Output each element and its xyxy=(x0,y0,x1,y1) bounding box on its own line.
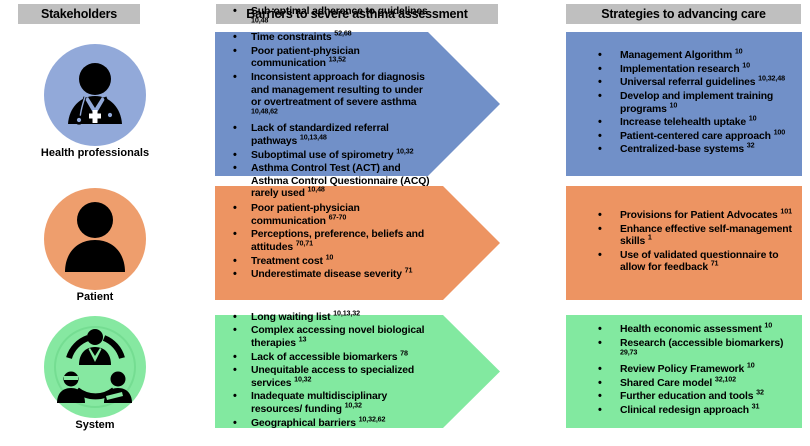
citation-ref: 10 xyxy=(747,361,755,370)
list-item-text: Further education and tools xyxy=(620,391,756,402)
list-item: Health economic assessment 10 xyxy=(590,324,794,337)
stakeholder-circle-patient xyxy=(44,188,146,290)
stakeholder-label: Patient xyxy=(2,291,188,303)
list-item: Poor patient-physician communication 13,… xyxy=(229,46,430,71)
person-icon xyxy=(44,188,146,290)
strategy-list: Provisions for Patient Advocates 101Enha… xyxy=(590,210,794,275)
citation-ref: 13,52 xyxy=(329,55,346,64)
stakeholder-circle-health-professionals xyxy=(44,44,146,146)
list-item-text: Universal referral guidelines xyxy=(620,77,758,88)
list-item-text: Management Algorithm xyxy=(620,50,735,61)
citation-ref: 52,68 xyxy=(334,29,351,38)
list-item: Lack of standardized referral pathways 1… xyxy=(229,123,430,148)
citation-ref: 67-70 xyxy=(329,212,347,221)
citation-ref: 10,32 xyxy=(345,401,362,410)
list-item-text: Suboptimal use of spirometry xyxy=(251,150,396,161)
group-network-icon xyxy=(44,316,146,418)
list-item-text: Geographical barriers xyxy=(251,418,359,429)
list-item-text: Lack of accessible biomarkers xyxy=(251,352,400,363)
list-item-text: Provisions for Patient Advocates xyxy=(620,210,780,221)
list-item: Time constraints 52,68 xyxy=(229,32,430,45)
list-item-text: Treatment cost xyxy=(251,256,326,267)
strategies-box-patient: Provisions for Patient Advocates 101Enha… xyxy=(566,186,802,300)
citation-ref: 10 xyxy=(669,100,677,109)
barriers-arrow-patient: Poor patient-physician communication 67-… xyxy=(215,186,500,300)
list-item-text: Complex accessing novel biological thera… xyxy=(251,325,424,349)
list-item: Sub-optimal adherence to guidelines 10,4… xyxy=(229,6,430,31)
list-item: Asthma Control Test (ACT) and Asthma Con… xyxy=(229,163,430,201)
citation-ref: 10 xyxy=(742,60,750,69)
stakeholder-circle-system xyxy=(44,316,146,418)
column-header-strategies: Strategies to advancing care xyxy=(566,4,801,24)
stakeholder-label: Health professionals xyxy=(2,147,188,159)
list-item: Perceptions, preference, beliefs and att… xyxy=(229,229,430,254)
citation-ref: 71 xyxy=(711,259,719,268)
list-item: Underestimate disease severity 71 xyxy=(229,269,430,282)
barriers-arrow-health-professionals: Sub-optimal adherence to guidelines 10,4… xyxy=(215,32,500,176)
citation-ref: 10,48 xyxy=(251,15,268,24)
list-item: Geographical barriers 10,32,62 xyxy=(229,418,430,431)
citation-ref: 10,32 xyxy=(294,374,311,383)
list-item: Further education and tools 32 xyxy=(590,391,794,404)
list-item: Patient-centered care approach 100 xyxy=(590,131,794,144)
diagram-canvas: Stakeholders Barriers to severe asthma a… xyxy=(0,0,810,446)
strategies-box-health-professionals: Management Algorithm 10Implementation re… xyxy=(566,32,802,176)
list-item: Unequitable access to specialized servic… xyxy=(229,365,430,390)
strategy-list: Health economic assessment 10Research (a… xyxy=(590,324,794,417)
list-item-text: Increase telehealth uptake xyxy=(620,117,749,128)
citation-ref: 1 xyxy=(648,233,652,242)
citation-ref: 32 xyxy=(747,141,755,150)
citation-ref: 10 xyxy=(749,114,757,123)
list-item: Use of validated questionnaire to allow … xyxy=(590,250,794,275)
citation-ref: 10,13,32 xyxy=(333,308,360,317)
stakeholder-system: System xyxy=(2,316,188,431)
doctor-icon xyxy=(44,44,146,146)
barrier-list: Poor patient-physician communication 67-… xyxy=(229,203,430,282)
list-item: Research (accessible biomarkers) 29,73 xyxy=(590,338,794,363)
list-item-text: Inadequate multidisciplinary resources/ … xyxy=(251,391,387,415)
citation-ref: 71 xyxy=(405,266,413,275)
list-item: Review Policy Framework 10 xyxy=(590,364,794,377)
list-item-text: Implementation research xyxy=(620,64,742,75)
citation-ref: 10,32 xyxy=(396,146,413,155)
list-item: Enhance effective self-management skills… xyxy=(590,224,794,249)
strategy-list: Management Algorithm 10Implementation re… xyxy=(590,50,794,157)
strategies-box-system: Health economic assessment 10Research (a… xyxy=(566,315,802,428)
list-item: Inconsistent approach for diagnosis and … xyxy=(229,72,430,122)
list-item-text: Clinical redesign approach xyxy=(620,405,752,416)
citation-ref: 32 xyxy=(756,388,764,397)
citation-ref: 10 xyxy=(326,252,334,261)
list-item: Develop and implement training programs … xyxy=(590,91,794,116)
list-item: Complex accessing novel biological thera… xyxy=(229,325,430,350)
list-item-text: Long waiting list xyxy=(251,312,333,323)
list-item-text: Sub-optimal adherence to guidelines xyxy=(251,6,428,17)
list-item-text: Unequitable access to specialized servic… xyxy=(251,365,414,389)
citation-ref: 70,71 xyxy=(296,239,313,248)
stakeholder-patient: Patient xyxy=(2,188,188,303)
list-item-text: Centralized-base systems xyxy=(620,144,747,155)
barrier-list: Sub-optimal adherence to guidelines 10,4… xyxy=(229,6,430,201)
list-item-text: Use of validated questionnaire to allow … xyxy=(620,250,778,274)
list-item: Long waiting list 10,13,32 xyxy=(229,312,430,325)
list-item-text: Develop and implement training programs xyxy=(620,91,773,115)
citation-ref: 13 xyxy=(299,335,307,344)
citation-ref: 10 xyxy=(735,47,743,56)
list-item-text: Asthma Control Test (ACT) and Asthma Con… xyxy=(251,163,429,199)
list-item: Suboptimal use of spirometry 10,32 xyxy=(229,150,430,163)
citation-ref: 29,73 xyxy=(620,347,637,356)
list-item: Inadequate multidisciplinary resources/ … xyxy=(229,391,430,416)
list-item: Provisions for Patient Advocates 101 xyxy=(590,210,794,223)
citation-ref: 32,102 xyxy=(715,374,736,383)
list-item: Poor patient-physician communication 67-… xyxy=(229,203,430,228)
citation-ref: 101 xyxy=(780,207,792,216)
citation-ref: 10,48,62 xyxy=(251,106,278,115)
list-item: Centralized-base systems 32 xyxy=(590,144,794,157)
citation-ref: 78 xyxy=(400,348,408,357)
column-header-stakeholders: Stakeholders xyxy=(18,4,140,24)
list-item-text: Shared Care model xyxy=(620,378,715,389)
list-item-text: Time constraints xyxy=(251,32,334,43)
list-item: Clinical redesign approach 31 xyxy=(590,405,794,418)
list-item-text: Health economic assessment xyxy=(620,324,764,335)
citation-ref: 31 xyxy=(752,402,760,411)
citation-ref: 10,48 xyxy=(308,185,325,194)
citation-ref: 10,13,48 xyxy=(300,133,327,142)
list-item: Treatment cost 10 xyxy=(229,256,430,269)
citation-ref: 10,32,62 xyxy=(359,414,386,423)
list-item: Lack of accessible biomarkers 78 xyxy=(229,352,430,365)
citation-ref: 10,32,48 xyxy=(758,74,785,83)
citation-ref: 10 xyxy=(764,321,772,330)
list-item: Increase telehealth uptake 10 xyxy=(590,117,794,130)
list-item-text: Perceptions, preference, beliefs and att… xyxy=(251,229,424,253)
stakeholder-health-professionals: Health professionals xyxy=(2,44,188,159)
list-item-text: Underestimate disease severity xyxy=(251,269,405,280)
list-item-text: Inconsistent approach for diagnosis and … xyxy=(251,72,425,108)
barrier-list: Long waiting list 10,13,32Complex access… xyxy=(229,312,430,430)
stakeholder-label: System xyxy=(2,419,188,431)
list-item: Universal referral guidelines 10,32,48 xyxy=(590,77,794,90)
citation-ref: 100 xyxy=(774,127,786,136)
list-item: Management Algorithm 10 xyxy=(590,50,794,63)
barriers-arrow-system: Long waiting list 10,13,32Complex access… xyxy=(215,315,500,428)
list-item-text: Enhance effective self-management skills xyxy=(620,224,792,248)
list-item-text: Research (accessible biomarkers) xyxy=(620,338,783,349)
